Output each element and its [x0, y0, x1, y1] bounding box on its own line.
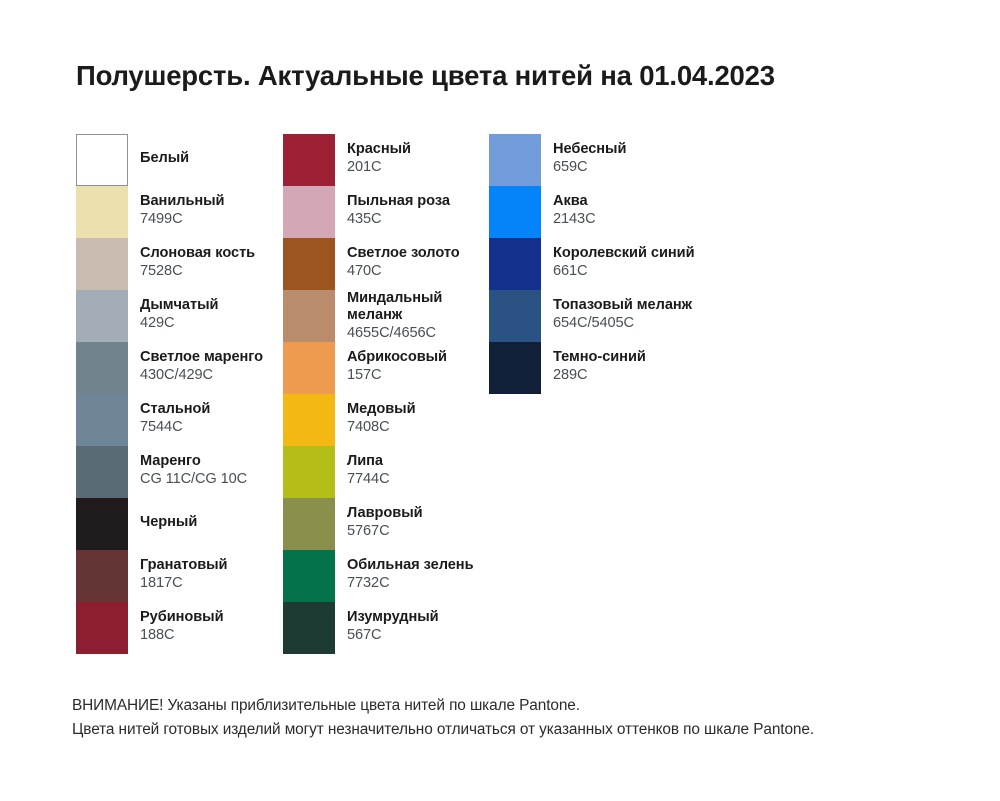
color-name: Миндальный меланж	[347, 290, 442, 324]
disclaimer-line-1: ВНИМАНИЕ! Указаны приблизительные цвета …	[72, 694, 962, 718]
swatch-label-block: Ванильный7499C	[140, 186, 224, 227]
color-chip[interactable]	[283, 498, 335, 550]
color-chip[interactable]	[283, 290, 335, 342]
disclaimer-line-2: Цвета нитей готовых изделий могут незнач…	[72, 718, 962, 742]
pantone-code: 188C	[140, 628, 224, 643]
palette-column-0: БелыйВанильный7499CСлоновая кость7528CДы…	[76, 134, 283, 654]
pantone-code: 7544C	[140, 420, 210, 435]
pantone-code: 157C	[347, 368, 447, 383]
color-chip[interactable]	[283, 342, 335, 394]
swatch-row[interactable]: Медовый7408C	[283, 394, 416, 446]
color-name: Абрикосовый	[347, 349, 447, 366]
color-chip[interactable]	[76, 186, 128, 238]
palette-column-1: Красный201CПыльная роза435CСветлое золот…	[283, 134, 489, 654]
color-chip[interactable]	[76, 446, 128, 498]
disclaimer-note: ВНИМАНИЕ! Указаны приблизительные цвета …	[72, 694, 962, 742]
color-name: Слоновая кость	[140, 245, 255, 262]
swatch-label-block: Небесный659C	[553, 134, 626, 175]
swatch-label-block: Темно-синий289C	[553, 342, 646, 383]
color-name: Топазовый меланж	[553, 297, 692, 314]
color-name: Пыльная роза	[347, 193, 450, 210]
color-name: Гранатовый	[140, 557, 227, 574]
color-name: Стальной	[140, 401, 210, 418]
pantone-code: 659C	[553, 160, 626, 175]
color-name: Лавровый	[347, 505, 423, 522]
color-name: Небесный	[553, 141, 626, 158]
swatch-row[interactable]: Абрикосовый157C	[283, 342, 447, 394]
swatch-label-block: Слоновая кость7528C	[140, 238, 255, 279]
page-title: Полушерсть. Актуальные цвета нитей на 01…	[76, 60, 956, 92]
pantone-code: 7408C	[347, 420, 416, 435]
swatch-row[interactable]: Белый	[76, 134, 189, 186]
swatch-row[interactable]: МаренгоCG 11C/CG 10C	[76, 446, 247, 498]
pantone-code: 567C	[347, 628, 439, 643]
swatch-row[interactable]: Липа7744C	[283, 446, 390, 498]
color-name: Рубиновый	[140, 609, 224, 626]
color-name: Обильная зелень	[347, 557, 474, 574]
pantone-code: 289C	[553, 368, 646, 383]
swatch-row[interactable]: Ванильный7499C	[76, 186, 224, 238]
swatch-label-block: Королевский синий661C	[553, 238, 695, 279]
color-chip[interactable]	[76, 134, 128, 186]
swatch-row[interactable]: Стальной7544C	[76, 394, 210, 446]
color-chip[interactable]	[283, 186, 335, 238]
color-name: Аква	[553, 193, 596, 210]
color-name: Красный	[347, 141, 411, 158]
swatch-row[interactable]: Изумрудный567C	[283, 602, 439, 654]
color-name: Ванильный	[140, 193, 224, 210]
swatch-label-block: Обильная зелень7732C	[347, 550, 474, 591]
color-chip[interactable]	[489, 238, 541, 290]
pantone-code: 7732C	[347, 576, 474, 591]
color-name: Медовый	[347, 401, 416, 418]
pantone-code: 201C	[347, 160, 411, 175]
swatch-label-block: Белый	[140, 134, 189, 167]
color-name: Липа	[347, 453, 390, 470]
color-chip[interactable]	[76, 290, 128, 342]
pantone-code: 7499C	[140, 212, 224, 227]
pantone-code: 429C	[140, 316, 218, 331]
color-name: Маренго	[140, 453, 247, 470]
color-chip[interactable]	[283, 238, 335, 290]
swatch-row[interactable]: Светлое золото470C	[283, 238, 460, 290]
pantone-code: 5767C	[347, 524, 423, 539]
color-chip[interactable]	[283, 394, 335, 446]
swatch-label-block: Светлое маренго430C/429C	[140, 342, 263, 383]
swatch-label-block: Рубиновый188C	[140, 602, 224, 643]
color-chip[interactable]	[76, 394, 128, 446]
color-chip[interactable]	[283, 602, 335, 654]
palette-column-2: Небесный659CАква2143CКоролевский синий66…	[489, 134, 749, 394]
pantone-code: 7528C	[140, 264, 255, 279]
color-name: Светлое маренго	[140, 349, 263, 366]
color-chart-sheet: Полушерсть. Актуальные цвета нитей на 01…	[0, 0, 1000, 801]
swatch-label-block: Миндальный меланж4655C/4656C	[347, 290, 442, 341]
pantone-code: 7744C	[347, 472, 390, 487]
color-name: Королевский синий	[553, 245, 695, 262]
pantone-code: 470C	[347, 264, 460, 279]
pantone-code: 661C	[553, 264, 695, 279]
swatch-row[interactable]: Слоновая кость7528C	[76, 238, 255, 290]
swatch-row[interactable]: Обильная зелень7732C	[283, 550, 474, 602]
color-chip[interactable]	[76, 602, 128, 654]
swatch-label-block: Медовый7408C	[347, 394, 416, 435]
swatch-label-block: Светлое золото470C	[347, 238, 460, 279]
pantone-code: 2143C	[553, 212, 596, 227]
palette-grid: БелыйВанильный7499CСлоновая кость7528CДы…	[76, 134, 956, 654]
swatch-label-block: Стальной7544C	[140, 394, 210, 435]
color-chip[interactable]	[76, 238, 128, 290]
swatch-label-block: Аква2143C	[553, 186, 596, 227]
pantone-code: 654C/5405C	[553, 316, 692, 331]
swatch-row[interactable]: Светлое маренго430C/429C	[76, 342, 263, 394]
swatch-row[interactable]: Рубиновый188C	[76, 602, 224, 654]
color-chip[interactable]	[283, 446, 335, 498]
color-name: Светлое золото	[347, 245, 460, 262]
swatch-row[interactable]: Гранатовый1817C	[76, 550, 227, 602]
color-chip[interactable]	[76, 498, 128, 550]
swatch-row[interactable]: Темно-синий289C	[489, 342, 646, 394]
swatch-row[interactable]: Королевский синий661C	[489, 238, 695, 290]
swatch-label-block: Красный201C	[347, 134, 411, 175]
swatch-row[interactable]: Пыльная роза435C	[283, 186, 450, 238]
swatch-row[interactable]: Черный	[76, 498, 197, 550]
swatch-label-block: Абрикосовый157C	[347, 342, 447, 383]
color-name: Изумрудный	[347, 609, 439, 626]
color-chip[interactable]	[489, 290, 541, 342]
color-chip[interactable]	[283, 550, 335, 602]
color-name: Белый	[140, 150, 189, 167]
pantone-code: 435C	[347, 212, 450, 227]
color-chip[interactable]	[489, 186, 541, 238]
swatch-label-block: Изумрудный567C	[347, 602, 439, 643]
color-chip[interactable]	[283, 134, 335, 186]
swatch-row[interactable]: Лавровый5767C	[283, 498, 423, 550]
pantone-code: 1817C	[140, 576, 227, 591]
swatch-label-block: Топазовый меланж654C/5405C	[553, 290, 692, 331]
pantone-code: 430C/429C	[140, 368, 263, 383]
swatch-row[interactable]: Небесный659C	[489, 134, 626, 186]
swatch-label-block: Дымчатый429C	[140, 290, 218, 331]
swatch-label-block: Лавровый5767C	[347, 498, 423, 539]
swatch-label-block: Гранатовый1817C	[140, 550, 227, 591]
swatch-label-block: Липа7744C	[347, 446, 390, 487]
swatch-label-block: МаренгоCG 11C/CG 10C	[140, 446, 247, 487]
pantone-code: CG 11C/CG 10C	[140, 472, 247, 487]
pantone-code: 4655C/4656C	[347, 326, 442, 341]
swatch-label-block: Пыльная роза435C	[347, 186, 450, 227]
color-name: Дымчатый	[140, 297, 218, 314]
color-name: Темно-синий	[553, 349, 646, 366]
swatch-row[interactable]: Красный201C	[283, 134, 411, 186]
color-chip[interactable]	[489, 134, 541, 186]
swatch-row[interactable]: Миндальный меланж4655C/4656C	[283, 290, 442, 342]
swatch-row[interactable]: Дымчатый429C	[76, 290, 218, 342]
color-chip[interactable]	[489, 342, 541, 394]
swatch-label-block: Черный	[140, 498, 197, 531]
color-chip[interactable]	[76, 550, 128, 602]
color-chip[interactable]	[76, 342, 128, 394]
color-name: Черный	[140, 514, 197, 531]
swatch-row[interactable]: Аква2143C	[489, 186, 596, 238]
swatch-row[interactable]: Топазовый меланж654C/5405C	[489, 290, 692, 342]
